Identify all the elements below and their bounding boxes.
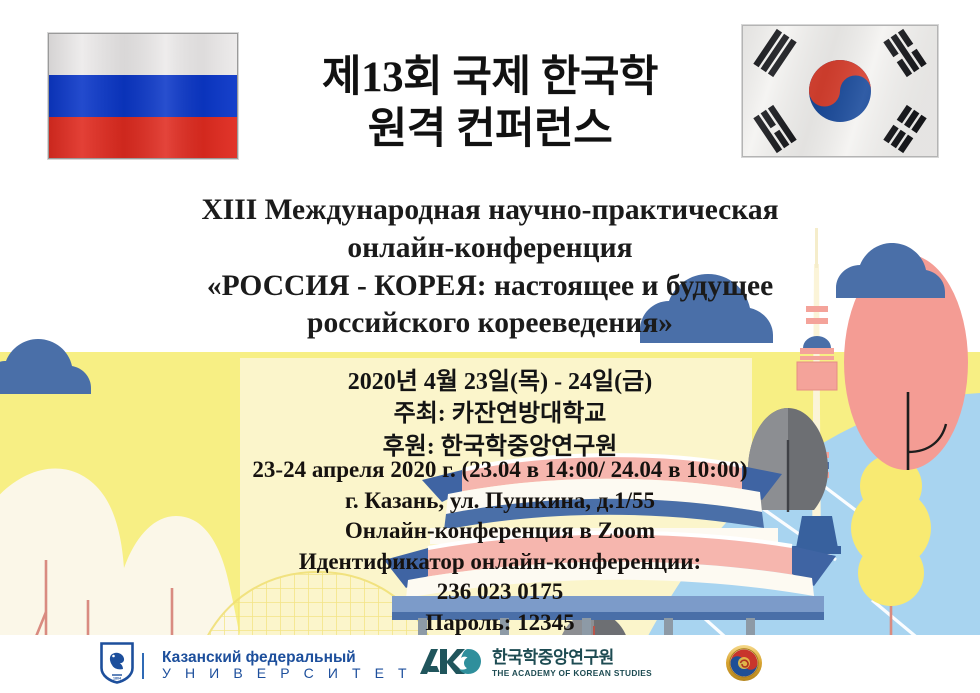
kfu-logo-divider [142, 653, 144, 679]
meeting-id-value: 236 023 0175 [150, 577, 850, 608]
russian-title-line1: XIII Международная научно-практическая [40, 192, 940, 230]
kfu-line1: Казанский федеральный [162, 650, 412, 666]
aks-line2: THE ACADEMY OF KOREAN STUDIES [492, 669, 652, 678]
russian-dates: 23-24 апреля 2020 г. (23.04 в 14:00/ 24.… [150, 455, 850, 486]
kfu-shield-icon: 1804 [100, 642, 134, 689]
russian-address: г. Казань, ул. Пушкина, д.1/55 [150, 486, 850, 517]
korean-title: 제13회 국제 한국학 원격 컨퍼런스 [245, 52, 735, 157]
meeting-password: Пароль: 12345 [150, 608, 850, 639]
kfu-wordmark: Казанский федеральный У Н И В Е Р С И Т … [162, 650, 412, 681]
russian-title-line4: российского корееведения» [40, 305, 940, 343]
seal-icon [725, 644, 763, 687]
korean-title-line2: 원격 컨퍼런스 [245, 104, 735, 156]
kazan-federal-university-logo[interactable]: 1804 Казанский федеральный У Н И В Е Р С… [100, 642, 412, 689]
korean-dates: 2020년 4월 23일(목) - 24일(금) [200, 366, 800, 398]
russian-title: XIII Международная научно-практическая о… [40, 192, 940, 343]
svg-text:1804: 1804 [113, 677, 121, 681]
aks-monogram-icon [418, 644, 482, 683]
korean-host: 주최: 카잔연방대학교 [200, 398, 800, 430]
meeting-id-label: Идентификатор онлайн-конференции: [150, 547, 850, 578]
kfu-line2: У Н И В Е Р С И Т Е Т [162, 666, 412, 681]
korean-title-line1: 제13회 국제 한국학 [245, 52, 735, 104]
russian-title-line3: «РОССИЯ - КОРЕЯ: настоящее и будущее [40, 268, 940, 306]
conference-poster: 제13회 국제 한국학 원격 컨퍼런스 XIII Международная н… [0, 0, 980, 693]
south-korea-flag [742, 25, 938, 157]
russian-title-line2: онлайн-конференция [40, 230, 940, 268]
russia-flag [48, 33, 238, 159]
academy-of-korean-studies-logo[interactable]: 한국학중앙연구원 THE ACADEMY OF KOREAN STUDIES [418, 644, 652, 683]
russian-platform: Онлайн-конференция в Zoom [150, 516, 850, 547]
aks-line1: 한국학중앙연구원 [492, 649, 652, 668]
aks-wordmark: 한국학중앙연구원 THE ACADEMY OF KOREAN STUDIES [492, 649, 652, 678]
korean-details: 2020년 4월 23일(목) - 24일(금) 주최: 카잔연방대학교 후원:… [200, 366, 800, 463]
footer-logo-bar: 1804 Казанский федеральный У Н И В Е Р С… [0, 635, 980, 693]
korean-studies-seal-emblem[interactable] [725, 644, 763, 687]
